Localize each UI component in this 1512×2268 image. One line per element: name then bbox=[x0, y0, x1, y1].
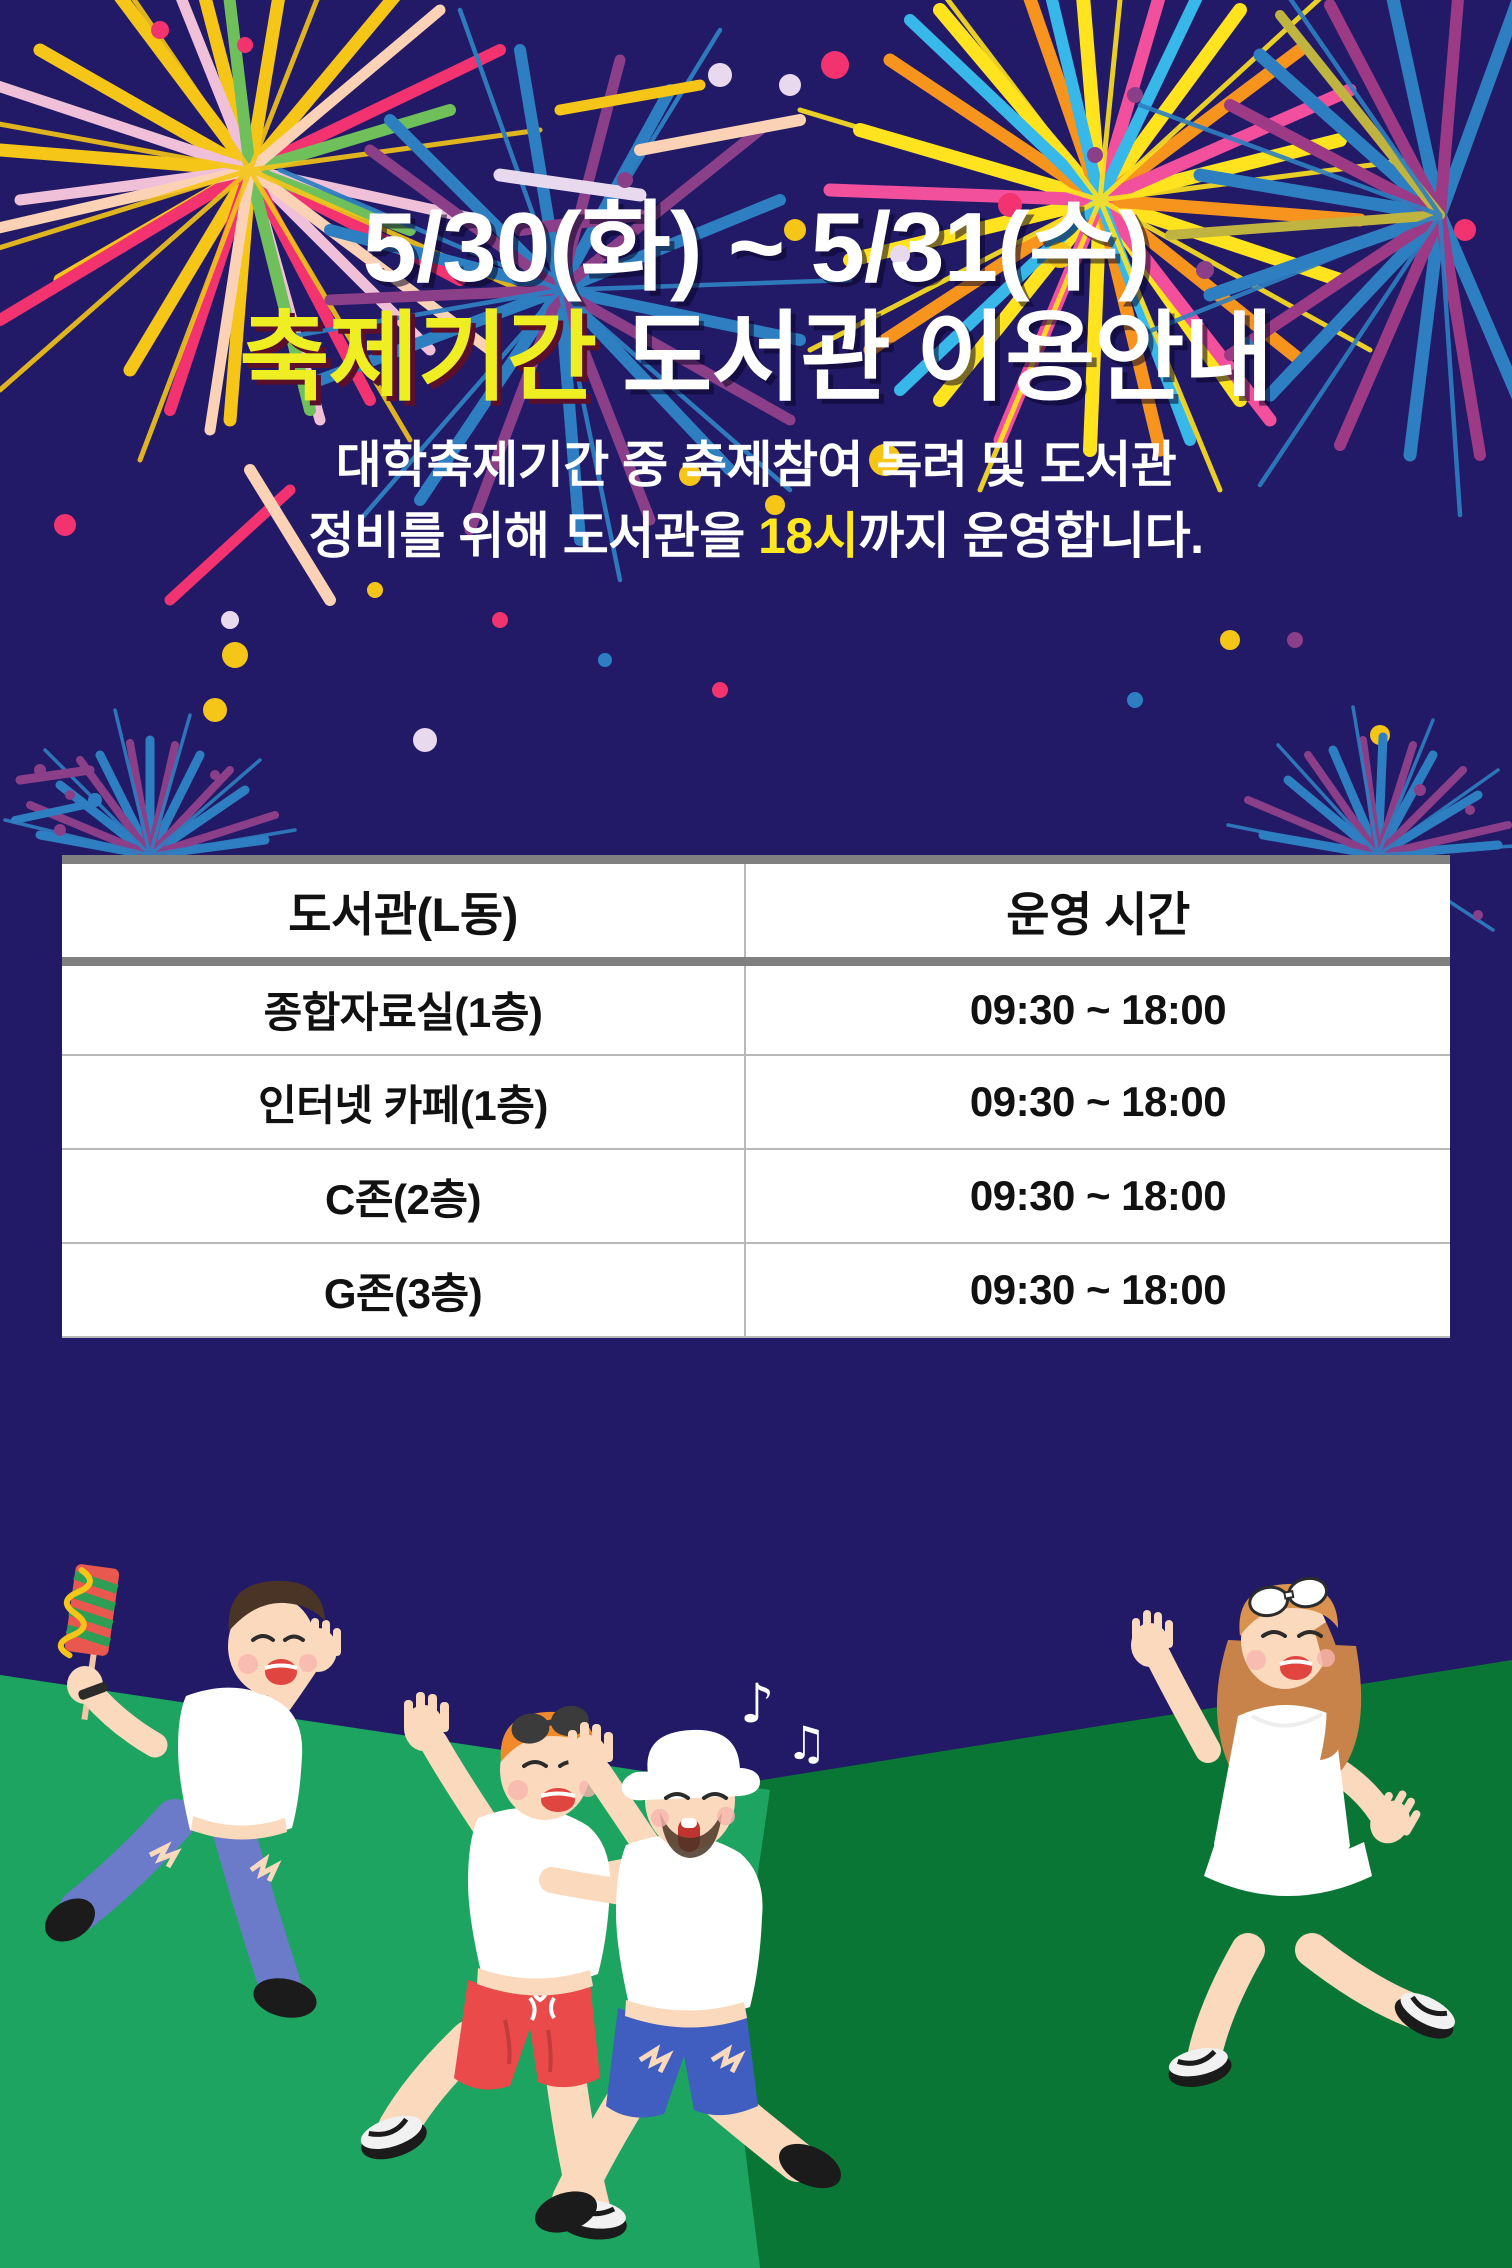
table-row: 종합자료실(1층) 09:30 ~ 18:00 bbox=[62, 961, 1450, 1055]
operating-hours-table: 도서관(L동) 운영 시간 종합자료실(1층) 09:30 ~ 18:00 인터… bbox=[62, 864, 1450, 1338]
subtitle-line-2: 정비를 위해 도서관을 18시까지 운영합니다. bbox=[0, 501, 1512, 572]
subtitle-line2-after: 까지 운영합니다. bbox=[858, 508, 1203, 564]
table-row: C존(2층) 09:30 ~ 18:00 bbox=[62, 1149, 1450, 1243]
subtitle-line2-before: 정비를 위해 도서관을 bbox=[308, 508, 758, 564]
table-cell-hours: 09:30 ~ 18:00 bbox=[745, 961, 1450, 1055]
table-header-location: 도서관(L동) bbox=[62, 864, 745, 961]
subtitle-highlight-closing-time: 18시 bbox=[758, 508, 858, 564]
title-rest-library-guide: 도서관 이용안내 bbox=[596, 302, 1273, 412]
festival-crowd-illustration bbox=[0, 1500, 1512, 2268]
festival-library-notice-poster: 5/30(화) ~ 5/31(수) 축제기간 도서관 이용안내 대학축제기간 중… bbox=[0, 0, 1512, 2268]
table-cell-location: 종합자료실(1층) bbox=[62, 961, 745, 1055]
table-row: G존(3층) 09:30 ~ 18:00 bbox=[62, 1243, 1450, 1337]
table-cell-location: G존(3층) bbox=[62, 1243, 745, 1337]
table-cell-location: 인터넷 카페(1층) bbox=[62, 1055, 745, 1149]
table-row: 인터넷 카페(1층) 09:30 ~ 18:00 bbox=[62, 1055, 1450, 1149]
poster-title: 5/30(화) ~ 5/31(수) 축제기간 도서관 이용안내 bbox=[0, 196, 1512, 412]
title-highlight-festival-period: 축제기간 bbox=[239, 302, 596, 412]
table-cell-hours: 09:30 ~ 18:00 bbox=[745, 1149, 1450, 1243]
subtitle-line-1: 대학축제기간 중 축제참여 독려 및 도서관 bbox=[0, 430, 1512, 501]
table-cell-location: C존(2층) bbox=[62, 1149, 745, 1243]
table-cell-hours: 09:30 ~ 18:00 bbox=[745, 1243, 1450, 1337]
title-main-heading: 축제기간 도서관 이용안내 bbox=[0, 304, 1512, 412]
title-date-range: 5/30(화) ~ 5/31(수) bbox=[0, 196, 1512, 300]
operating-hours-table-container: 도서관(L동) 운영 시간 종합자료실(1층) 09:30 ~ 18:00 인터… bbox=[62, 855, 1450, 1338]
table-cell-hours: 09:30 ~ 18:00 bbox=[745, 1055, 1450, 1149]
poster-subtitle: 대학축제기간 중 축제참여 독려 및 도서관 정비를 위해 도서관을 18시까지… bbox=[0, 430, 1512, 572]
table-header-hours: 운영 시간 bbox=[745, 864, 1450, 961]
table-header-row: 도서관(L동) 운영 시간 bbox=[62, 864, 1450, 961]
